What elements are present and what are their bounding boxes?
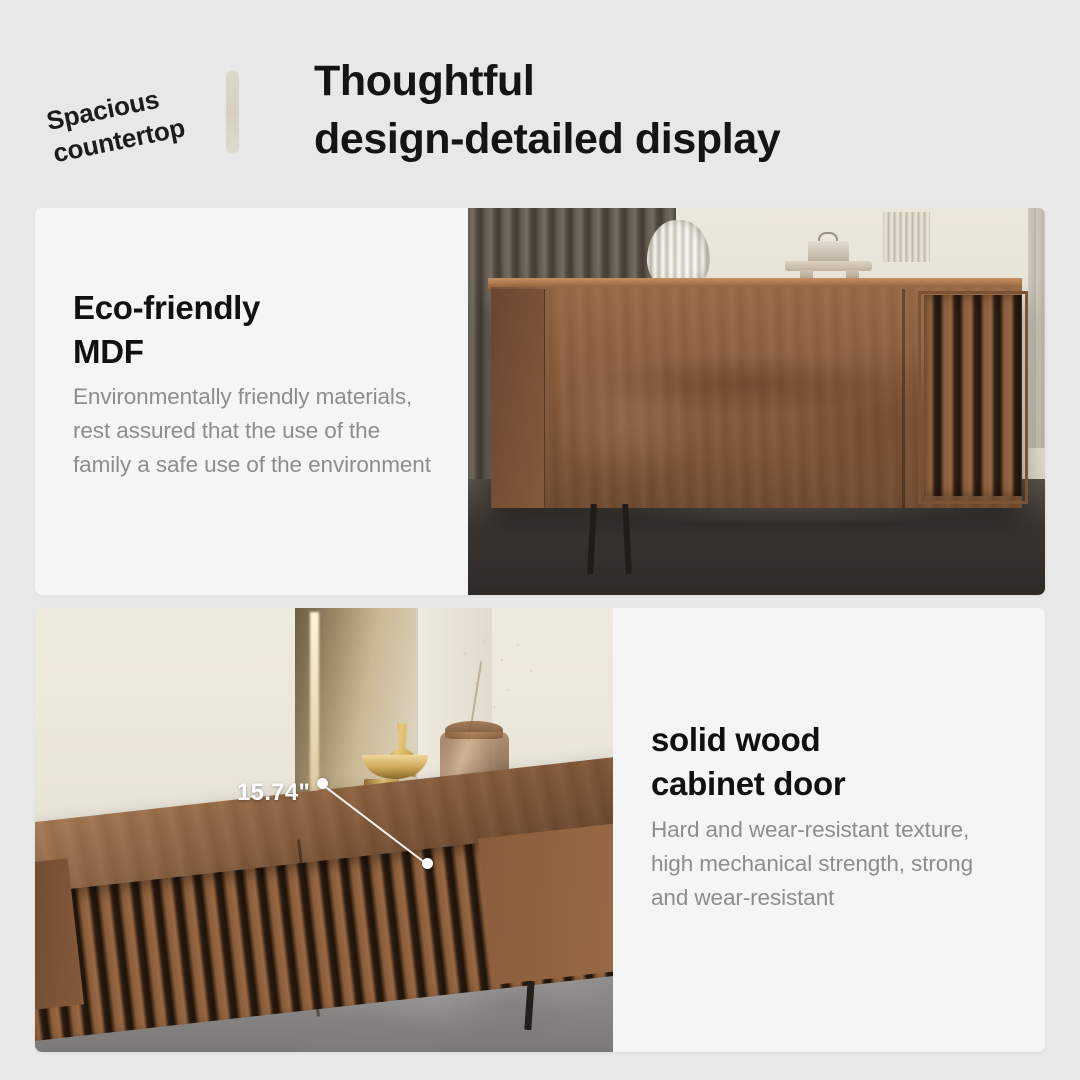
page-title-line-2: design-detailed display bbox=[314, 110, 1054, 168]
product-photo-sideboard bbox=[468, 208, 1045, 595]
feature-card-photo-console bbox=[35, 608, 613, 1052]
photo-cabinet-divider bbox=[902, 289, 905, 508]
feature-card-eco-friendly-mdf: Eco-friendly MDF Environmentally friendl… bbox=[35, 208, 1045, 595]
page-title-line-1: Thoughtful bbox=[314, 52, 1054, 110]
feature-card-heading-line-1: solid wood bbox=[651, 718, 1021, 762]
photo-slatted-door-frame bbox=[918, 291, 1028, 504]
feature-card-photo-sideboard bbox=[468, 208, 1045, 595]
dimension-value-label: 15.74" bbox=[237, 779, 310, 807]
photo-light-strip bbox=[310, 612, 319, 807]
feature-card-body: Hard and wear-resistant texture, high me… bbox=[651, 813, 1011, 915]
feature-card-heading: Eco-friendly MDF bbox=[73, 286, 433, 374]
photo-reed-decor bbox=[883, 212, 929, 262]
feature-card-body: Environmentally friendly materials, rest… bbox=[73, 380, 443, 482]
photo-console-right-door bbox=[478, 822, 613, 984]
photo-cabinet-side-panel bbox=[491, 289, 545, 508]
feature-card-text-panel: Eco-friendly MDF Environmentally friendl… bbox=[35, 208, 468, 595]
product-photo-console bbox=[35, 608, 613, 1052]
page-title: Thoughtful design-detailed display bbox=[314, 52, 1054, 168]
dimension-endpoint-start bbox=[317, 778, 328, 789]
feature-card-heading-line-1: Eco-friendly bbox=[73, 286, 433, 330]
feature-card-text-panel: solid wood cabinet door Hard and wear-re… bbox=[613, 608, 1045, 1052]
dimension-endpoint-end bbox=[422, 858, 433, 869]
photo-slat-wall-right bbox=[1028, 208, 1045, 448]
feature-card-solid-wood-cabinet-door: solid wood cabinet door Hard and wear-re… bbox=[35, 608, 1045, 1052]
feature-card-heading: solid wood cabinet door bbox=[651, 718, 1021, 806]
feature-card-heading-line-2: MDF bbox=[73, 330, 433, 374]
feature-card-heading-line-2: cabinet door bbox=[651, 762, 1021, 806]
